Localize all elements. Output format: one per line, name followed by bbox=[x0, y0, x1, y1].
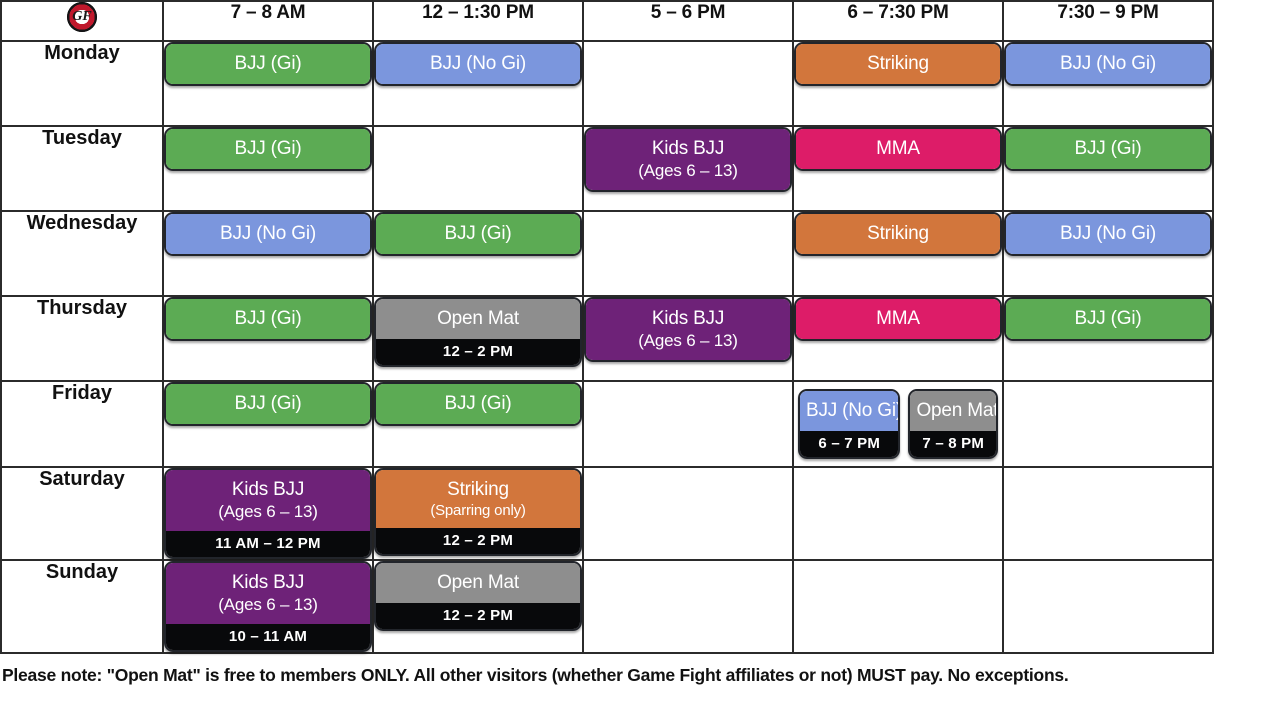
slot-cell-tuesday-0[interactable]: BJJ (Gi) bbox=[163, 126, 373, 211]
schedule-row-thursday: ThursdayBJJ (Gi)Open Mat12 – 2 PMKids BJ… bbox=[1, 296, 1213, 381]
class-card-title: Striking bbox=[382, 479, 574, 501]
time-slot-header-0: 7 – 8 AM bbox=[163, 1, 373, 41]
time-slot-header-1: 12 – 1:30 PM bbox=[373, 1, 583, 41]
class-card-body: BJJ (No Gi) bbox=[800, 391, 898, 431]
schedule-body: MondayBJJ (Gi)BJJ (No Gi)StrikingBJJ (No… bbox=[1, 41, 1213, 653]
table-header-row: GF 7 – 8 AM 12 – 1:30 PM 5 – 6 PM 6 – 7:… bbox=[1, 1, 1213, 41]
class-card-title: Kids BJJ bbox=[172, 572, 364, 594]
class-card-subtitle: (Sparring only) bbox=[382, 502, 574, 519]
class-card-title: BJJ (Gi) bbox=[382, 393, 574, 415]
class-card[interactable]: Striking bbox=[794, 42, 1002, 86]
slot-cell-sunday-2 bbox=[583, 560, 793, 653]
class-card-time-badge: 6 – 7 PM bbox=[800, 431, 898, 457]
slot-cards: BJJ (Gi) bbox=[164, 297, 372, 341]
class-card[interactable]: Kids BJJ(Ages 6 – 13)10 – 11 AM bbox=[164, 561, 372, 652]
class-card-body: BJJ (No Gi) bbox=[376, 44, 580, 84]
day-label-monday: Monday bbox=[1, 41, 163, 126]
class-card-body: MMA bbox=[796, 129, 1000, 169]
class-card[interactable]: BJJ (Gi) bbox=[1004, 127, 1212, 171]
class-card-body: BJJ (Gi) bbox=[166, 384, 370, 424]
slot-cell-thursday-3[interactable]: MMA bbox=[793, 296, 1003, 381]
slot-cell-friday-0[interactable]: BJJ (Gi) bbox=[163, 381, 373, 467]
slot-cell-monday-2 bbox=[583, 41, 793, 126]
class-card-title: BJJ (No Gi) bbox=[1012, 53, 1204, 75]
slot-cell-sunday-0[interactable]: Kids BJJ(Ages 6 – 13)10 – 11 AM bbox=[163, 560, 373, 653]
class-card-title: Open Mat bbox=[382, 308, 574, 330]
class-card[interactable]: BJJ (No Gi) bbox=[1004, 212, 1212, 256]
slot-cell-saturday-1[interactable]: Striking(Sparring only)12 – 2 PM bbox=[373, 467, 583, 560]
class-card-body: BJJ (Gi) bbox=[376, 214, 580, 254]
class-card-body: Kids BJJ(Ages 6 – 13) bbox=[166, 563, 370, 624]
time-slot-header-2: 5 – 6 PM bbox=[583, 1, 793, 41]
slot-cards: Kids BJJ(Ages 6 – 13) bbox=[584, 127, 792, 192]
schedule-page: GF 7 – 8 AM 12 – 1:30 PM 5 – 6 PM 6 – 7:… bbox=[0, 0, 1274, 706]
slot-cell-sunday-1[interactable]: Open Mat12 – 2 PM bbox=[373, 560, 583, 653]
class-card[interactable]: MMA bbox=[794, 127, 1002, 171]
time-slot-header-4: 7:30 – 9 PM bbox=[1003, 1, 1213, 41]
class-card-body: Kids BJJ(Ages 6 – 13) bbox=[586, 299, 790, 360]
day-label-tuesday: Tuesday bbox=[1, 126, 163, 211]
slot-cell-tuesday-1 bbox=[373, 126, 583, 211]
slot-cell-wednesday-0[interactable]: BJJ (No Gi) bbox=[163, 211, 373, 296]
slot-cards: BJJ (Gi) bbox=[164, 127, 372, 171]
class-card-title: BJJ (Gi) bbox=[1012, 138, 1204, 160]
class-card[interactable]: BJJ (Gi) bbox=[164, 127, 372, 171]
class-card-time-badge: 12 – 2 PM bbox=[376, 528, 580, 554]
class-card[interactable]: BJJ (Gi) bbox=[164, 297, 372, 341]
class-card[interactable]: Open Mat12 – 2 PM bbox=[374, 297, 582, 367]
class-card-body: BJJ (Gi) bbox=[1006, 299, 1210, 339]
class-card-title: Open Mat bbox=[916, 400, 990, 422]
class-card-title: BJJ (Gi) bbox=[382, 223, 574, 245]
slot-cell-friday-2 bbox=[583, 381, 793, 467]
class-schedule-table: GF 7 – 8 AM 12 – 1:30 PM 5 – 6 PM 6 – 7:… bbox=[0, 0, 1214, 654]
class-card-time-badge: 12 – 2 PM bbox=[376, 603, 580, 629]
class-card-body: Open Mat bbox=[376, 563, 580, 603]
class-card-body: MMA bbox=[796, 299, 1000, 339]
slot-cell-sunday-3 bbox=[793, 560, 1003, 653]
slot-cell-saturday-0[interactable]: Kids BJJ(Ages 6 – 13)11 AM – 12 PM bbox=[163, 467, 373, 560]
class-card[interactable]: BJJ (No Gi) bbox=[374, 42, 582, 86]
class-card[interactable]: Open Mat12 – 2 PM bbox=[374, 561, 582, 631]
class-card-body: Kids BJJ(Ages 6 – 13) bbox=[586, 129, 790, 190]
day-label-sunday: Sunday bbox=[1, 560, 163, 653]
class-card-body: Open Mat bbox=[376, 299, 580, 339]
class-card-body: BJJ (Gi) bbox=[166, 129, 370, 169]
class-card-title: Striking bbox=[802, 223, 994, 245]
schedule-row-friday: FridayBJJ (Gi)BJJ (Gi)BJJ (No Gi)6 – 7 P… bbox=[1, 381, 1213, 467]
class-card[interactable]: BJJ (No Gi) bbox=[1004, 42, 1212, 86]
slot-cards: Striking bbox=[794, 42, 1002, 86]
slot-cards: BJJ (Gi) bbox=[164, 42, 372, 86]
slot-cell-friday-4 bbox=[1003, 381, 1213, 467]
class-card-title: BJJ (No Gi) bbox=[1012, 223, 1204, 245]
gym-logo-icon: GF bbox=[67, 2, 97, 32]
schedule-row-sunday: SundayKids BJJ(Ages 6 – 13)10 – 11 AMOpe… bbox=[1, 560, 1213, 653]
class-card-body: Kids BJJ(Ages 6 – 13) bbox=[166, 470, 370, 531]
class-card[interactable]: BJJ (No Gi) bbox=[164, 212, 372, 256]
slot-cards: BJJ (No Gi) bbox=[374, 42, 582, 86]
class-card-title: Kids BJJ bbox=[592, 138, 784, 160]
footer-note: Please note: "Open Mat" is free to membe… bbox=[0, 665, 1274, 686]
class-card-subtitle: (Ages 6 – 13) bbox=[592, 161, 784, 181]
class-card[interactable]: Open Mat7 – 8 PM bbox=[908, 389, 998, 459]
slot-cell-friday-1[interactable]: BJJ (Gi) bbox=[373, 381, 583, 467]
class-card[interactable]: BJJ (No Gi)6 – 7 PM bbox=[798, 389, 900, 459]
day-label-saturday: Saturday bbox=[1, 467, 163, 560]
class-card-time-badge: 11 AM – 12 PM bbox=[166, 531, 370, 557]
time-slot-header-3: 6 – 7:30 PM bbox=[793, 1, 1003, 41]
slot-cell-thursday-2[interactable]: Kids BJJ(Ages 6 – 13) bbox=[583, 296, 793, 381]
slot-cards: BJJ (No Gi) bbox=[164, 212, 372, 256]
slot-cards: BJJ (No Gi)6 – 7 PMOpen Mat7 – 8 PM bbox=[798, 389, 998, 459]
class-card-body: BJJ (Gi) bbox=[376, 384, 580, 424]
class-card[interactable]: BJJ (Gi) bbox=[164, 42, 372, 86]
slot-cell-thursday-1[interactable]: Open Mat12 – 2 PM bbox=[373, 296, 583, 381]
slot-cell-wednesday-1[interactable]: BJJ (Gi) bbox=[373, 211, 583, 296]
schedule-row-monday: MondayBJJ (Gi)BJJ (No Gi)StrikingBJJ (No… bbox=[1, 41, 1213, 126]
class-card-title: Open Mat bbox=[382, 572, 574, 594]
logo-monogram: GF bbox=[67, 2, 97, 32]
class-card-title: BJJ (Gi) bbox=[172, 308, 364, 330]
class-card-body: BJJ (No Gi) bbox=[166, 214, 370, 254]
class-card[interactable]: Kids BJJ(Ages 6 – 13) bbox=[584, 127, 792, 192]
class-card-body: BJJ (Gi) bbox=[1006, 129, 1210, 169]
schedule-row-wednesday: WednesdayBJJ (No Gi)BJJ (Gi)StrikingBJJ … bbox=[1, 211, 1213, 296]
slot-cell-tuesday-4[interactable]: BJJ (Gi) bbox=[1003, 126, 1213, 211]
slot-cell-wednesday-4[interactable]: BJJ (No Gi) bbox=[1003, 211, 1213, 296]
class-card-body: BJJ (Gi) bbox=[166, 299, 370, 339]
class-card[interactable]: Striking bbox=[794, 212, 1002, 256]
class-card-body: BJJ (No Gi) bbox=[1006, 44, 1210, 84]
slot-cards: BJJ (Gi) bbox=[374, 212, 582, 256]
class-card-title: BJJ (No Gi) bbox=[382, 53, 574, 75]
slot-cell-saturday-3 bbox=[793, 467, 1003, 560]
slot-cell-thursday-4[interactable]: BJJ (Gi) bbox=[1003, 296, 1213, 381]
class-card-subtitle: (Ages 6 – 13) bbox=[592, 331, 784, 351]
schedule-row-tuesday: TuesdayBJJ (Gi)Kids BJJ(Ages 6 – 13)MMAB… bbox=[1, 126, 1213, 211]
slot-cell-saturday-4 bbox=[1003, 467, 1213, 560]
class-card[interactable]: BJJ (Gi) bbox=[374, 212, 582, 256]
class-card-body: Striking bbox=[796, 214, 1000, 254]
day-label-wednesday: Wednesday bbox=[1, 211, 163, 296]
class-card-title: BJJ (No Gi) bbox=[172, 223, 364, 245]
slot-cards: Kids BJJ(Ages 6 – 13)10 – 11 AM bbox=[164, 561, 372, 652]
class-card-subtitle: (Ages 6 – 13) bbox=[172, 502, 364, 522]
slot-cell-monday-3[interactable]: Striking bbox=[793, 41, 1003, 126]
slot-cards: Kids BJJ(Ages 6 – 13) bbox=[584, 297, 792, 362]
slot-cell-friday-3[interactable]: BJJ (No Gi)6 – 7 PMOpen Mat7 – 8 PM bbox=[793, 381, 1003, 467]
slot-cell-wednesday-3[interactable]: Striking bbox=[793, 211, 1003, 296]
class-card-title: BJJ (Gi) bbox=[172, 393, 364, 415]
day-label-friday: Friday bbox=[1, 381, 163, 467]
class-card[interactable]: BJJ (Gi) bbox=[374, 382, 582, 426]
slot-cards: BJJ (Gi) bbox=[374, 382, 582, 426]
slot-cards: Striking(Sparring only)12 – 2 PM bbox=[374, 468, 582, 556]
class-card[interactable]: Kids BJJ(Ages 6 – 13) bbox=[584, 297, 792, 362]
slot-cell-thursday-0[interactable]: BJJ (Gi) bbox=[163, 296, 373, 381]
slot-cards: BJJ (Gi) bbox=[164, 382, 372, 426]
slot-cell-monday-0[interactable]: BJJ (Gi) bbox=[163, 41, 373, 126]
slot-cards: Kids BJJ(Ages 6 – 13)11 AM – 12 PM bbox=[164, 468, 372, 559]
class-card[interactable]: BJJ (Gi) bbox=[164, 382, 372, 426]
slot-cards: BJJ (Gi) bbox=[1004, 127, 1212, 171]
class-card-title: BJJ (No Gi) bbox=[806, 400, 892, 422]
class-card[interactable]: BJJ (Gi) bbox=[1004, 297, 1212, 341]
slot-cards: BJJ (Gi) bbox=[1004, 297, 1212, 341]
class-card-title: Kids BJJ bbox=[592, 308, 784, 330]
slot-cell-tuesday-3[interactable]: MMA bbox=[793, 126, 1003, 211]
slot-cards: BJJ (No Gi) bbox=[1004, 212, 1212, 256]
class-card[interactable]: Striking(Sparring only)12 – 2 PM bbox=[374, 468, 582, 556]
slot-cards: BJJ (No Gi) bbox=[1004, 42, 1212, 86]
slot-cell-monday-4[interactable]: BJJ (No Gi) bbox=[1003, 41, 1213, 126]
slot-cards: MMA bbox=[794, 297, 1002, 341]
slot-cell-tuesday-2[interactable]: Kids BJJ(Ages 6 – 13) bbox=[583, 126, 793, 211]
class-card-title: MMA bbox=[802, 138, 994, 160]
class-card[interactable]: Kids BJJ(Ages 6 – 13)11 AM – 12 PM bbox=[164, 468, 372, 559]
class-card-title: Kids BJJ bbox=[172, 479, 364, 501]
class-card-body: Striking bbox=[796, 44, 1000, 84]
class-card-time-badge: 12 – 2 PM bbox=[376, 339, 580, 365]
class-card-title: BJJ (Gi) bbox=[172, 138, 364, 160]
class-card-body: BJJ (Gi) bbox=[166, 44, 370, 84]
class-card-body: BJJ (No Gi) bbox=[1006, 214, 1210, 254]
class-card-time-badge: 7 – 8 PM bbox=[910, 431, 996, 457]
logo-cell: GF bbox=[1, 1, 163, 41]
class-card-title: MMA bbox=[802, 308, 994, 330]
slot-cards: Striking bbox=[794, 212, 1002, 256]
class-card-subtitle: (Ages 6 – 13) bbox=[172, 595, 364, 615]
slot-cards: Open Mat12 – 2 PM bbox=[374, 297, 582, 367]
class-card-title: Striking bbox=[802, 53, 994, 75]
class-card-time-badge: 10 – 11 AM bbox=[166, 624, 370, 650]
class-card[interactable]: MMA bbox=[794, 297, 1002, 341]
class-card-body: Striking(Sparring only) bbox=[376, 470, 580, 528]
schedule-row-saturday: SaturdayKids BJJ(Ages 6 – 13)11 AM – 12 … bbox=[1, 467, 1213, 560]
slot-cards: MMA bbox=[794, 127, 1002, 171]
slot-cell-saturday-2 bbox=[583, 467, 793, 560]
class-card-title: BJJ (Gi) bbox=[172, 53, 364, 75]
class-card-body: Open Mat bbox=[910, 391, 996, 431]
class-card-title: BJJ (Gi) bbox=[1012, 308, 1204, 330]
slot-cell-monday-1[interactable]: BJJ (No Gi) bbox=[373, 41, 583, 126]
slot-cards: Open Mat12 – 2 PM bbox=[374, 561, 582, 631]
slot-cell-sunday-4 bbox=[1003, 560, 1213, 653]
day-label-thursday: Thursday bbox=[1, 296, 163, 381]
slot-cell-wednesday-2 bbox=[583, 211, 793, 296]
